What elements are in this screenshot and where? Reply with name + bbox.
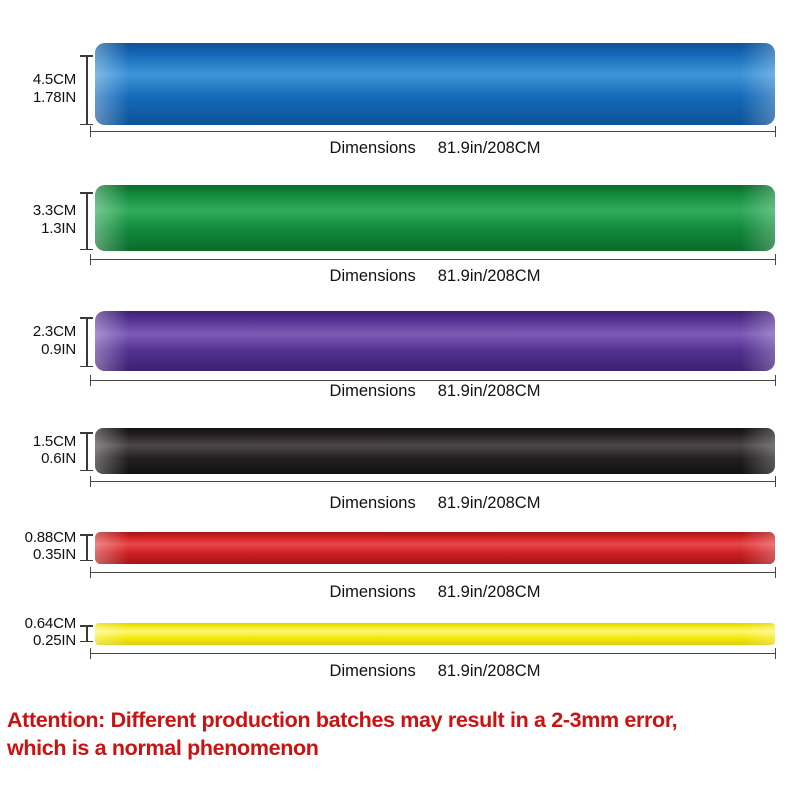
- dimension-stem: [86, 317, 88, 367]
- resistance-band-yellow: [95, 623, 775, 645]
- length-caption: Dimensions81.9in/208CM: [95, 382, 775, 401]
- length-caption-label: Dimensions: [330, 494, 416, 512]
- length-caption-value: 81.9in/208CM: [438, 583, 541, 601]
- thickness-cm-value: 1.5CM: [0, 433, 76, 451]
- length-caption-label: Dimensions: [330, 382, 416, 400]
- thickness-in-value: 0.9IN: [0, 341, 76, 359]
- length-dimension-line: [90, 126, 776, 137]
- thickness-label-group: 0.64CM0.25IN: [0, 615, 76, 650]
- dimension-stem: [86, 192, 88, 250]
- thickness-dimension-line: [80, 625, 93, 642]
- length-caption: Dimensions81.9in/208CM: [95, 267, 775, 286]
- band-right-edge-highlight: [741, 311, 775, 371]
- dimension-end-cap: [80, 470, 93, 472]
- length-caption: Dimensions81.9in/208CM: [95, 139, 775, 158]
- length-dimension-line: [90, 476, 776, 487]
- length-caption-label: Dimensions: [330, 267, 416, 285]
- dimension-end-cap: [80, 625, 93, 627]
- dimension-end-cap: [80, 366, 93, 368]
- thickness-label-group: 4.5CM1.78IN: [0, 71, 76, 106]
- band-right-edge-highlight: [741, 428, 775, 474]
- thickness-label-group: 1.5CM0.6IN: [0, 433, 76, 468]
- length-caption-label: Dimensions: [330, 583, 416, 601]
- dimension-end-cap: [80, 560, 93, 562]
- length-caption-label: Dimensions: [330, 139, 416, 157]
- thickness-in-value: 0.6IN: [0, 450, 76, 468]
- thickness-dimension-line: [80, 534, 93, 561]
- dimension-end-cap: [80, 55, 93, 57]
- band-left-edge-highlight: [95, 532, 129, 564]
- attention-notice: Attention: Different production batches …: [7, 706, 797, 763]
- resistance-band-green: [95, 185, 775, 251]
- thickness-dimension-line: [80, 192, 93, 250]
- band-left-edge-highlight: [95, 428, 129, 474]
- dimension-end-tick: [90, 567, 91, 578]
- thickness-cm-value: 3.3CM: [0, 202, 76, 220]
- dimension-stem: [86, 55, 88, 125]
- dimension-end-cap: [80, 124, 93, 126]
- length-caption: Dimensions81.9in/208CM: [95, 494, 775, 513]
- dimension-end-tick: [90, 648, 91, 659]
- thickness-cm-value: 0.64CM: [0, 615, 76, 633]
- dimension-end-tick: [90, 476, 91, 487]
- thickness-cm-value: 4.5CM: [0, 71, 76, 89]
- dimension-stem: [86, 534, 88, 561]
- band-right-edge-highlight: [741, 185, 775, 251]
- thickness-in-value: 0.35IN: [0, 546, 76, 564]
- length-dimension-line: [90, 254, 776, 265]
- length-caption: Dimensions81.9in/208CM: [95, 583, 775, 602]
- length-dimension-line: [90, 648, 776, 659]
- thickness-in-value: 1.78IN: [0, 89, 76, 107]
- dimension-end-tick: [90, 375, 91, 386]
- resistance-band-black: [95, 428, 775, 474]
- length-caption-value: 81.9in/208CM: [438, 662, 541, 680]
- dimension-end-cap: [80, 192, 93, 194]
- resistance-band-red: [95, 532, 775, 564]
- dimension-end-cap: [80, 432, 93, 434]
- dimension-rule: [90, 653, 776, 654]
- thickness-cm-value: 0.88CM: [0, 529, 76, 547]
- thickness-in-value: 0.25IN: [0, 632, 76, 650]
- dimension-end-tick: [775, 648, 776, 659]
- length-caption-label: Dimensions: [330, 662, 416, 680]
- dimension-end-cap: [80, 249, 93, 251]
- thickness-dimension-line: [80, 55, 93, 125]
- thickness-cm-value: 2.3CM: [0, 323, 76, 341]
- dimension-rule: [90, 572, 776, 573]
- thickness-dimension-line: [80, 432, 93, 471]
- thickness-dimension-line: [80, 317, 93, 367]
- dimension-end-tick: [775, 567, 776, 578]
- attention-line-2: which is a normal phenomenon: [7, 734, 797, 762]
- resistance-band-purple: [95, 311, 775, 371]
- length-caption-value: 81.9in/208CM: [438, 267, 541, 285]
- dimension-rule: [90, 259, 776, 260]
- resistance-band-spec-sheet: 4.5CM1.78INDimensions81.9in/208CM3.3CM1.…: [0, 0, 800, 800]
- length-dimension-line: [90, 567, 776, 578]
- length-caption-value: 81.9in/208CM: [438, 494, 541, 512]
- dimension-end-tick: [775, 254, 776, 265]
- dimension-rule: [90, 481, 776, 482]
- dimension-end-tick: [775, 126, 776, 137]
- dimension-end-tick: [90, 254, 91, 265]
- band-left-edge-highlight: [95, 43, 129, 125]
- attention-line-1: Attention: Different production batches …: [7, 706, 797, 734]
- dimension-rule: [90, 131, 776, 132]
- resistance-band-blue: [95, 43, 775, 125]
- dimension-end-cap: [80, 641, 93, 643]
- thickness-in-value: 1.3IN: [0, 220, 76, 238]
- band-left-edge-highlight: [95, 311, 129, 371]
- thickness-label-group: 3.3CM1.3IN: [0, 202, 76, 237]
- dimension-end-cap: [80, 317, 93, 319]
- dimension-stem: [86, 625, 88, 642]
- length-caption: Dimensions81.9in/208CM: [95, 662, 775, 681]
- band-right-edge-highlight: [741, 532, 775, 564]
- dimension-stem: [86, 432, 88, 471]
- length-caption-value: 81.9in/208CM: [438, 382, 541, 400]
- thickness-label-group: 0.88CM0.35IN: [0, 529, 76, 564]
- band-left-edge-highlight: [95, 185, 129, 251]
- length-caption-value: 81.9in/208CM: [438, 139, 541, 157]
- dimension-end-tick: [775, 476, 776, 487]
- band-left-edge-highlight: [95, 623, 129, 645]
- band-right-edge-highlight: [741, 43, 775, 125]
- band-right-edge-highlight: [741, 623, 775, 645]
- dimension-end-tick: [90, 126, 91, 137]
- thickness-label-group: 2.3CM0.9IN: [0, 323, 76, 358]
- dimension-end-cap: [80, 534, 93, 536]
